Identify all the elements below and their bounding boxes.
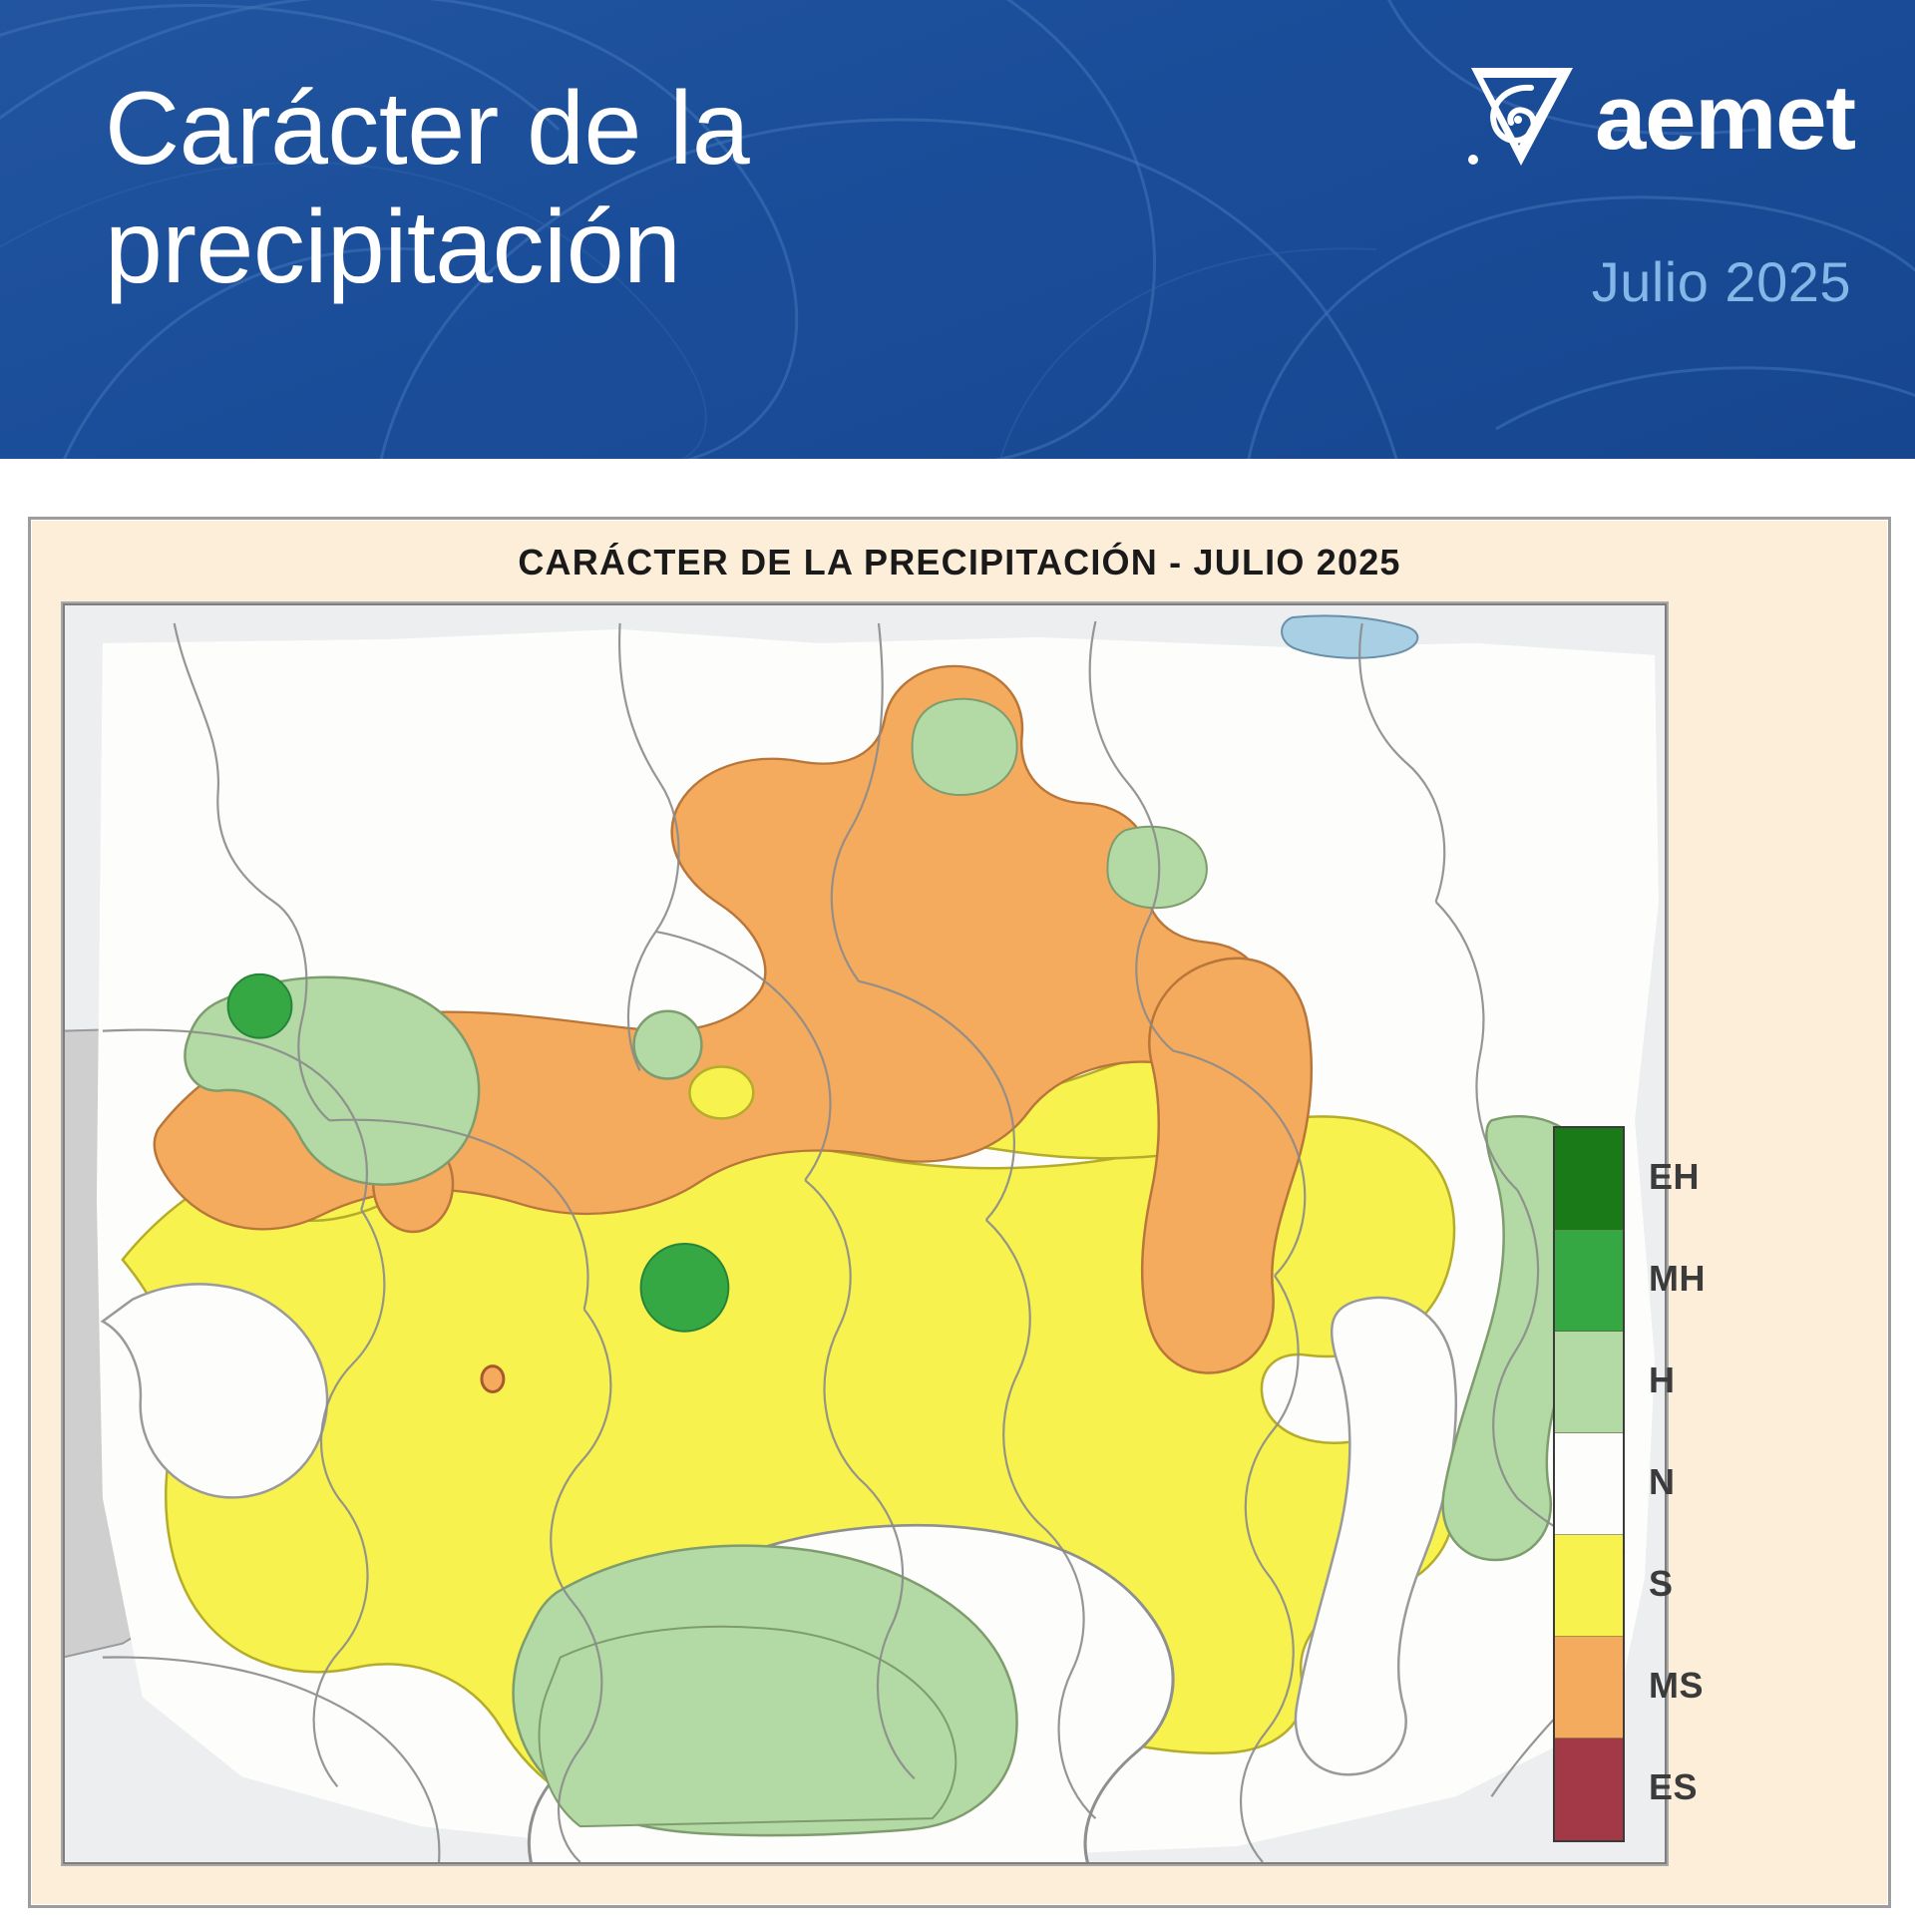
legend-swatch-eh bbox=[1555, 1128, 1623, 1230]
aemet-spiral-icon bbox=[1461, 62, 1581, 174]
legend-label-eh: EH bbox=[1649, 1126, 1706, 1228]
legend-swatch-h bbox=[1555, 1332, 1623, 1433]
aemet-logo[interactable]: aemet bbox=[1461, 62, 1855, 174]
legend-label-es: ES bbox=[1649, 1737, 1706, 1838]
page-title: Carácter de la precipitación bbox=[105, 70, 1202, 306]
page-header: Carácter de la precipitación aemet Julio… bbox=[0, 0, 1915, 459]
legend-label-h: H bbox=[1649, 1330, 1706, 1431]
legend-swatch-ms bbox=[1555, 1637, 1623, 1739]
map-panel-wrapper: CARÁCTER DE LA PRECIPITACIÓN - JULIO 202… bbox=[0, 459, 1915, 1932]
legend-swatch-s bbox=[1555, 1535, 1623, 1637]
legend-swatch-mh bbox=[1555, 1230, 1623, 1332]
legend-labels: EH MH H N S MS ES bbox=[1649, 1126, 1706, 1842]
map-panel: CARÁCTER DE LA PRECIPITACIÓN - JULIO 202… bbox=[28, 517, 1891, 1908]
region-humedo-central-dot bbox=[634, 1011, 702, 1079]
precipitation-character-map[interactable] bbox=[63, 603, 1667, 1864]
legend-label-ms: MS bbox=[1649, 1635, 1706, 1737]
legend-label-n: N bbox=[1649, 1431, 1706, 1533]
legend-swatch-n bbox=[1555, 1433, 1623, 1535]
region-muy-seco-southwest-point bbox=[482, 1366, 504, 1392]
aemet-wordmark: aemet bbox=[1595, 72, 1855, 164]
legend-label-s: S bbox=[1649, 1533, 1706, 1635]
region-seco-central-dot bbox=[689, 1067, 753, 1119]
legend-colorbar bbox=[1553, 1126, 1625, 1842]
legend-swatch-es bbox=[1555, 1739, 1623, 1840]
region-muy-humedo-south-core bbox=[641, 1244, 729, 1332]
map-frame[interactable] bbox=[61, 601, 1669, 1866]
legend-label-mh: MH bbox=[1649, 1228, 1706, 1330]
map-title: CARÁCTER DE LA PRECIPITACIÓN - JULIO 202… bbox=[31, 542, 1888, 583]
map-legend: EH MH H N S MS ES bbox=[1553, 1126, 1802, 1842]
region-humedo-north-patch bbox=[913, 699, 1017, 795]
region-muy-humedo-northwest-core bbox=[228, 974, 292, 1038]
header-date: Julio 2025 bbox=[1592, 249, 1851, 314]
